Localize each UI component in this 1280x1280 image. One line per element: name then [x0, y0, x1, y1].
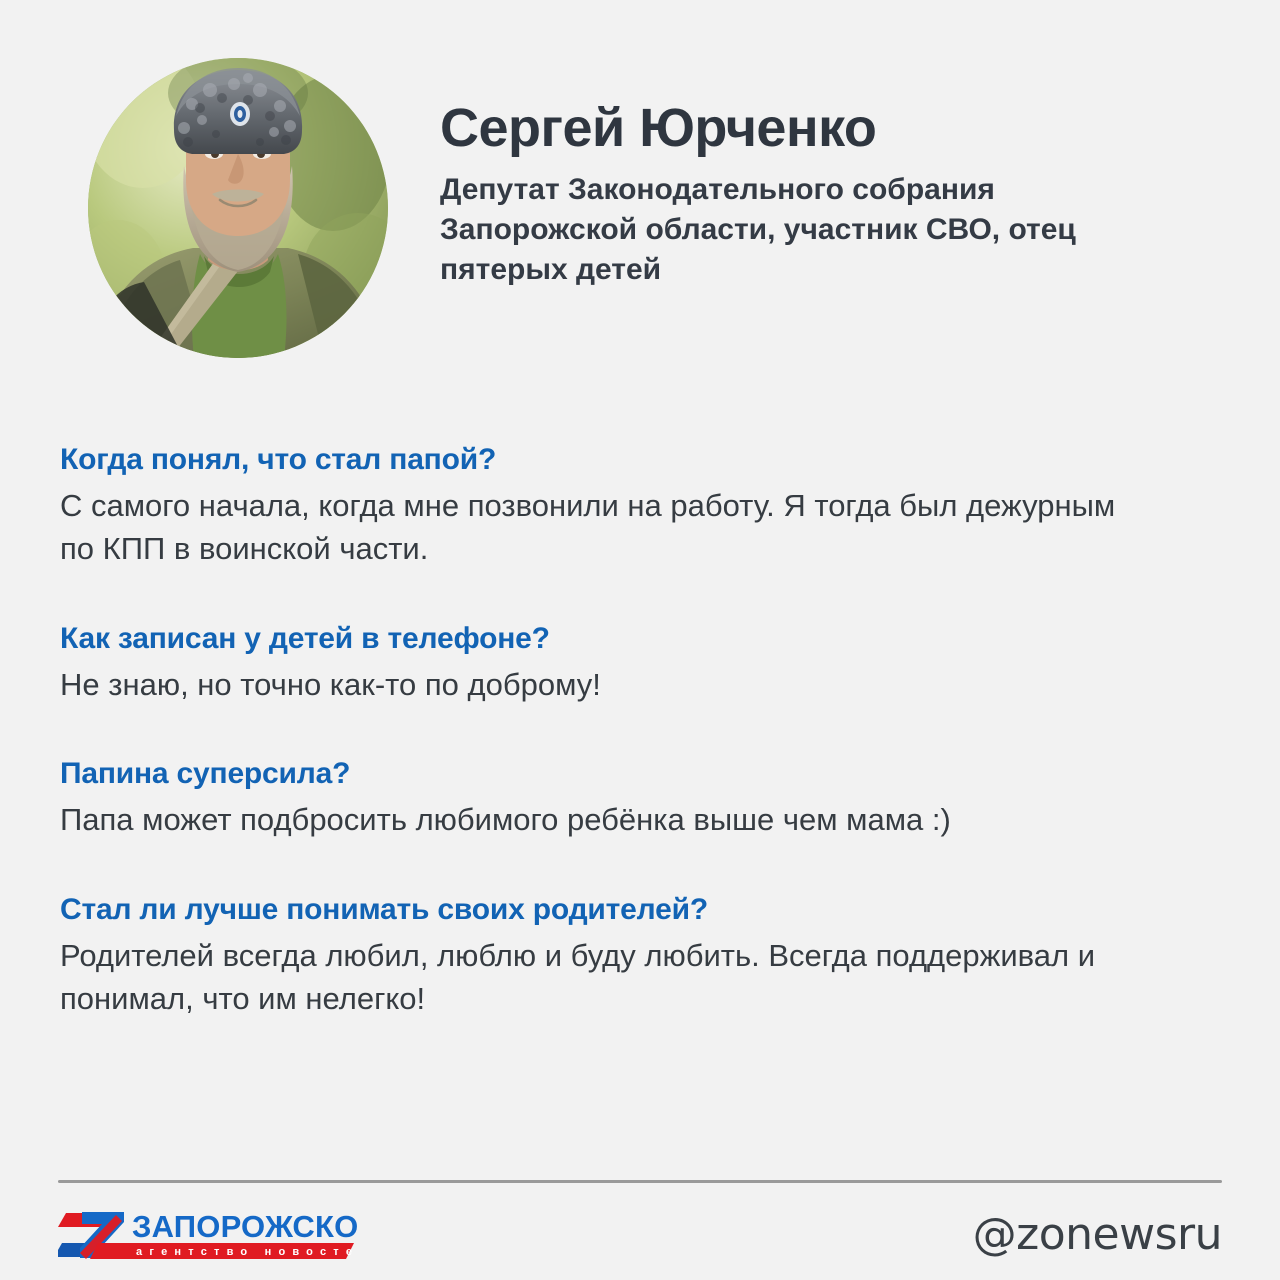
profile-text: Сергей Юрченко Депутат Законодательного … [440, 58, 1160, 290]
info-card: Сергей Юрченко Депутат Законодательного … [0, 0, 1280, 1280]
qa-block: Как записан у детей в телефоне? Не знаю,… [60, 619, 1230, 707]
qa-question: Когда понял, что стал папой? [60, 440, 1230, 479]
footer: ЗАПОРОЖСКОЕ агентство новостей @zonewsru [58, 1200, 1222, 1270]
footer-divider [58, 1180, 1222, 1183]
logo-subtitle: агентство новостей [136, 1246, 358, 1258]
agency-logo: ЗАПОРОЖСКОЕ агентство новостей [58, 1203, 358, 1267]
qa-answer: С самого начала, когда мне позвонили на … [60, 485, 1130, 571]
qa-question: Как записан у детей в телефоне? [60, 619, 1230, 658]
qa-list: Когда понял, что стал папой? С самого на… [60, 440, 1230, 1021]
qa-answer: Папа может подбросить любимого ребёнка в… [60, 799, 1130, 842]
qa-block: Когда понял, что стал папой? С самого на… [60, 440, 1230, 571]
qa-answer: Родителей всегда любил, люблю и буду люб… [60, 935, 1130, 1021]
person-name: Сергей Юрченко [440, 100, 1160, 156]
avatar [88, 58, 388, 358]
qa-question: Папина суперсила? [60, 754, 1230, 793]
social-handle[interactable]: @zonewsru [973, 1213, 1222, 1257]
qa-question: Стал ли лучше понимать своих родителей? [60, 890, 1230, 929]
qa-answer: Не знаю, но точно как-то по доброму! [60, 664, 1130, 707]
qa-block: Стал ли лучше понимать своих родителей? … [60, 890, 1230, 1021]
person-role: Депутат Законодательного собрания Запоро… [440, 170, 1160, 290]
profile-header: Сергей Юрченко Депутат Законодательного … [88, 58, 1198, 358]
qa-block: Папина суперсила? Папа может подбросить … [60, 754, 1230, 842]
logo-title: ЗАПОРОЖСКОЕ [132, 1209, 358, 1244]
